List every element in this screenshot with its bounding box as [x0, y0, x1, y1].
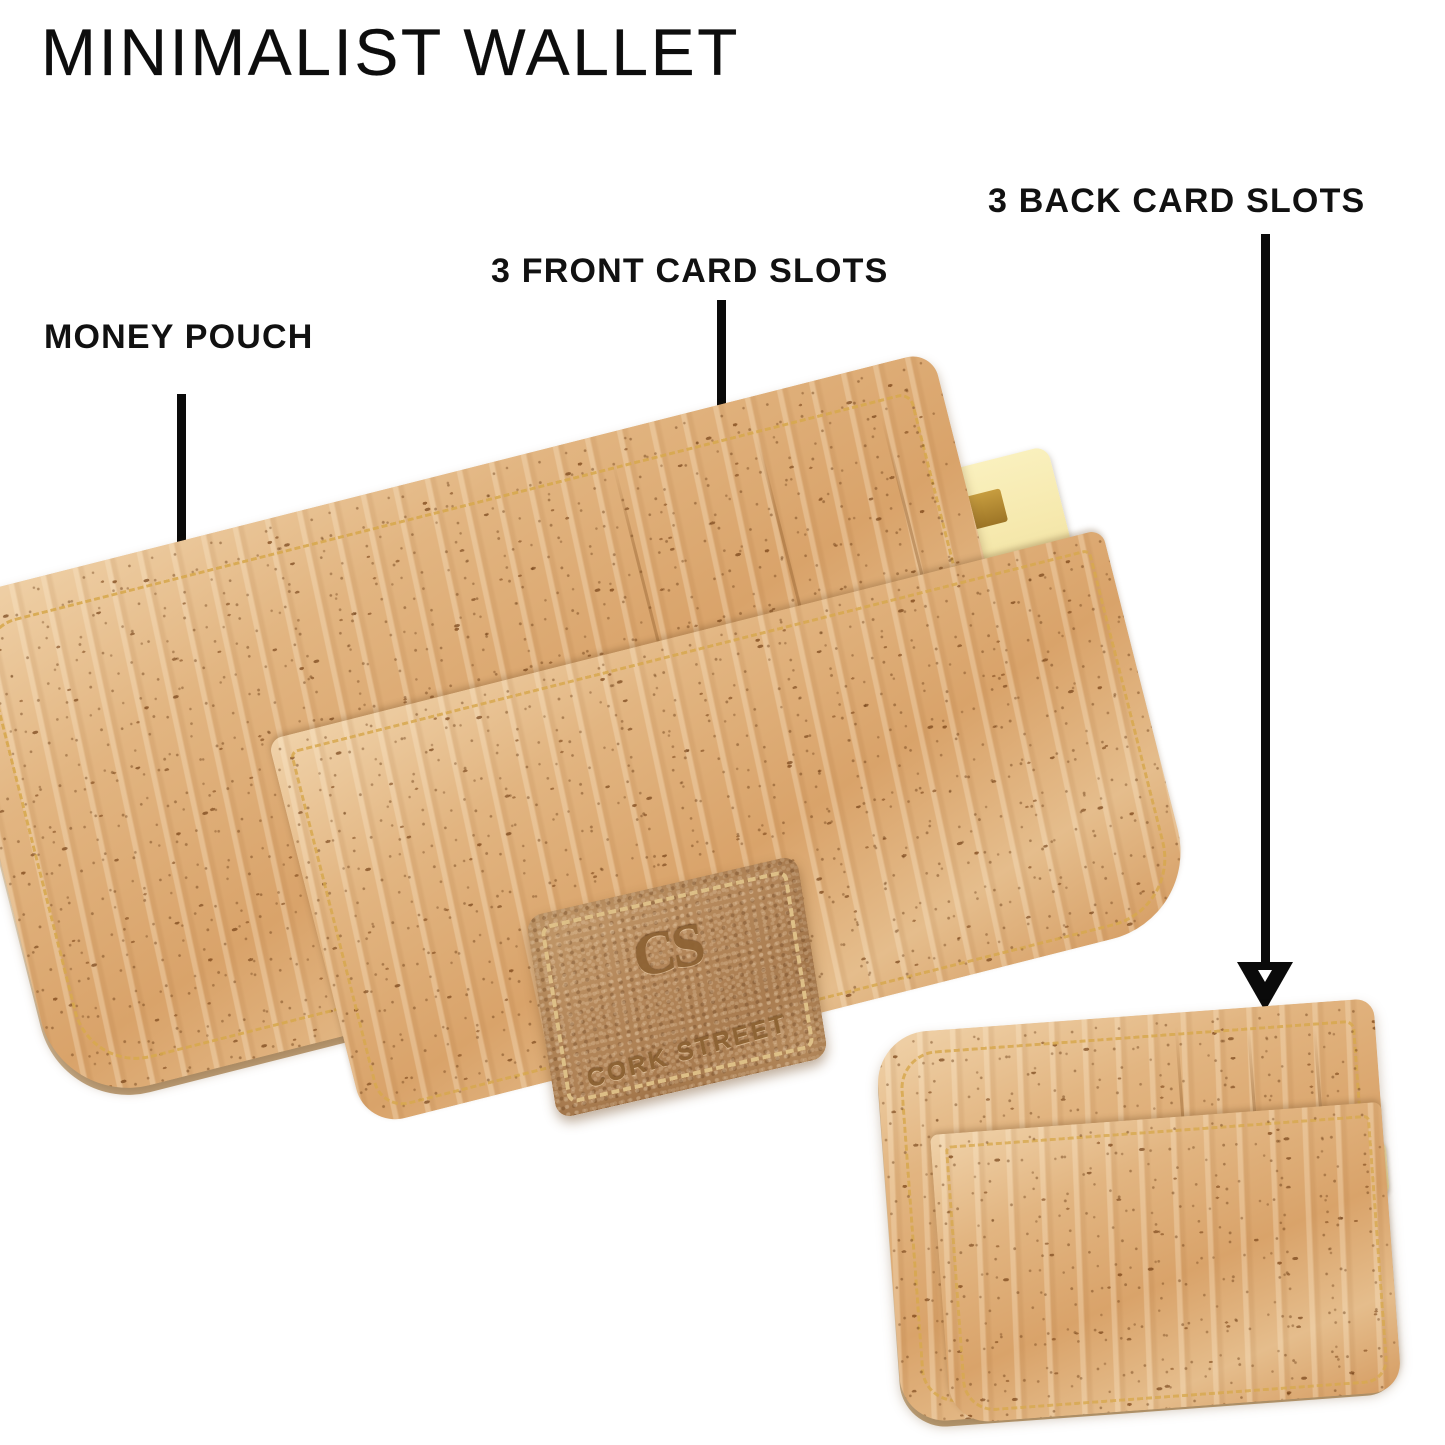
back-wallet-photo: UNIBANCO UNIBANCO UNIBANCO: [880, 1000, 1400, 1420]
infographic-canvas: MINIMALIST WALLET MONEY POUCH 3 FRONT CA…: [0, 0, 1445, 1445]
brand-monogram: CS: [628, 909, 706, 993]
brand-name-emboss: CORK STREET: [585, 1009, 790, 1094]
page-title: MINIMALIST WALLET: [41, 14, 740, 90]
back-card-pocket: [930, 1102, 1402, 1424]
callout-label-back-card-slots: 3 BACK CARD SLOTS: [988, 182, 1365, 221]
callout-label-front-card-slots: 3 FRONT CARD SLOTS: [491, 252, 889, 291]
down-arrow-icon-back-card-slots: [1236, 234, 1294, 1012]
arrow-shaft: [1261, 234, 1270, 964]
callout-label-money-pouch: MONEY POUCH: [44, 318, 314, 357]
pocket-stitching: [945, 1115, 1389, 1413]
